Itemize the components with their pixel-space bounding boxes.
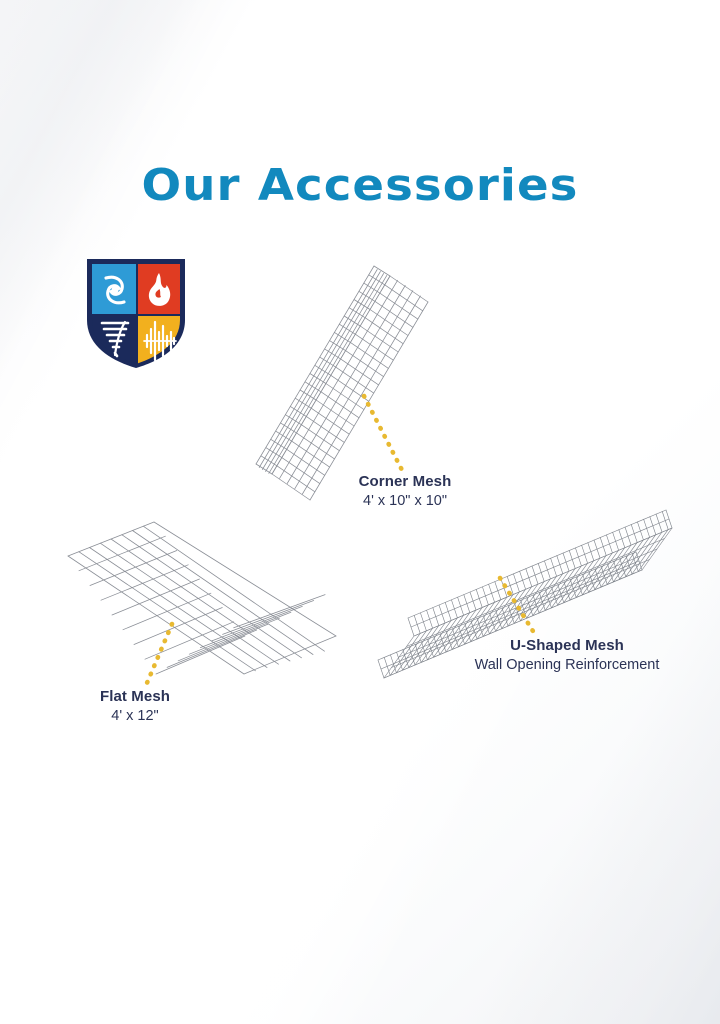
flat-mesh-illustration xyxy=(66,518,338,678)
callout-flat-mesh: Flat Mesh 4' x 12" xyxy=(45,687,225,726)
u-shaped-mesh-leader-line xyxy=(496,574,542,640)
corner-mesh-leader-line xyxy=(360,392,410,478)
product-spec-u-shaped-mesh: Wall Opening Reinforcement xyxy=(432,656,702,675)
callout-u-shaped-mesh: U-Shaped Mesh Wall Opening Reinforcement xyxy=(432,636,702,675)
flat-mesh-leader-line xyxy=(138,620,178,694)
product-name-corner-mesh: Corner Mesh xyxy=(280,472,530,492)
callout-corner-mesh: Corner Mesh 4' x 10" x 10" xyxy=(280,472,530,511)
accessories-page: Our Accessories xyxy=(0,0,720,1024)
flat-mesh-cross-lines xyxy=(167,595,336,674)
page-title: Our Accessories xyxy=(0,160,720,211)
product-name-flat-mesh: Flat Mesh xyxy=(45,687,225,707)
flat-mesh-panel xyxy=(68,522,336,679)
product-spec-corner-mesh: 4' x 10" x 10" xyxy=(280,492,530,511)
four-quadrant-shield-logo xyxy=(84,256,188,368)
product-name-u-shaped-mesh: U-Shaped Mesh xyxy=(432,636,702,656)
product-spec-flat-mesh: 4' x 12" xyxy=(45,707,225,726)
